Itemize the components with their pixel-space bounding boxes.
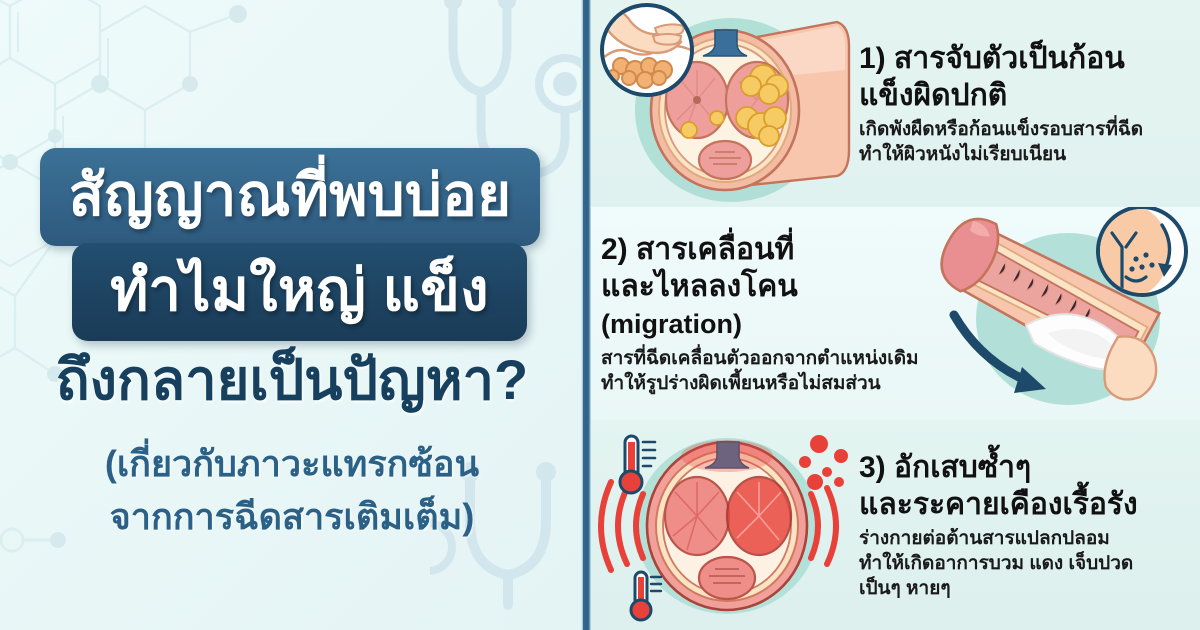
- headline-line-1: สัญญาณที่พบบ่อย: [40, 148, 540, 246]
- item-heading-line-1: สารจับตัวเป็นก้อน: [894, 42, 1125, 75]
- item-body-line-3: เป็นๆ หายๆ: [859, 578, 951, 599]
- item-heading-line-2: แข็งผิดปกติ: [859, 79, 1007, 112]
- item-heading: 3) อักเสบซ้ำๆ และระคายเคืองเรื้อรัง: [859, 449, 1192, 523]
- item-heading-line-1: สารเคลื่อนที่: [636, 233, 794, 266]
- left-panel: สัญญาณที่พบบ่อย ทำไมใหญ่ แข็ง ถึงกลายเป็…: [0, 0, 584, 630]
- vertical-divider: [581, 0, 591, 630]
- cross-section-with-yellow-lumps: [591, 0, 853, 207]
- right-panel: 1) สารจับตัวเป็นก้อน แข็งผิดปกติ เกิดพัง…: [591, 0, 1200, 630]
- item-body: ร่างกายต่อต้านสารแปลกปลอม ทำให้เกิดอาการ…: [859, 526, 1192, 601]
- item-text: 2) สารเคลื่อนที่ และไหลลงโคน (migration)…: [591, 231, 930, 396]
- list-item: 3) อักเสบซ้ำๆ และระคายเคืองเรื้อรัง ร่าง…: [591, 420, 1200, 630]
- item-heading: 2) สารเคลื่อนที่ และไหลลงโคน (migration): [601, 231, 922, 343]
- item-heading: 1) สารจับตัวเป็นก้อน แข็งผิดปกติ: [859, 40, 1192, 114]
- item-body-line-1: เกิดพังผืดหรือก้อนแข็งรอบสารที่ฉีด: [859, 119, 1143, 140]
- item-heading-line-1: อักเสบซ้ำๆ: [894, 451, 1031, 484]
- list-item: 1) สารจับตัวเป็นก้อน แข็งผิดปกติ เกิดพัง…: [591, 0, 1200, 207]
- item-number: 3): [859, 451, 886, 484]
- subtitle-line-2: จากการฉีดสารเติมเต็ม): [0, 490, 584, 543]
- headline-line-2: ทำไมใหญ่ แข็ง: [72, 243, 527, 341]
- subtitle-group: (เกี่ยวกับภาวะแทรกซ้อน จากการฉีดสารเติมเ…: [0, 437, 584, 543]
- headline-line-3: ถึงกลายเป็นปัญหา?: [0, 345, 584, 415]
- infographic-canvas: สัญญาณที่พบบ่อย ทำไมใหญ่ แข็ง ถึงกลายเป็…: [0, 0, 1200, 630]
- item-heading-line-3: (migration): [601, 309, 742, 339]
- item-body-line-2: ทำให้ผิวหนังไม่เรียบเนียน: [859, 144, 1066, 165]
- list-item: 2) สารเคลื่อนที่ และไหลลงโคน (migration)…: [591, 207, 1200, 420]
- item-body: เกิดพังผืดหรือก้อนแข็งรอบสารที่ฉีด ทำให้…: [859, 117, 1192, 167]
- item-body: สารที่ฉีดเคลื่อนตัวออกจากตำแหน่งเดิม ทำใ…: [601, 346, 922, 396]
- item-body-line-2: ทำให้รูปร่างผิดเพี้ยนหรือไม่สมส่วน: [601, 373, 881, 394]
- item-body-line-1: ร่างกายต่อต้านสารแปลกปลอม: [859, 528, 1110, 549]
- item-heading-line-2: และระคายเคืองเรื้อรัง: [859, 488, 1138, 521]
- longitudinal-section-with-migration-arrow: [930, 207, 1200, 420]
- inflamed-cross-section: [591, 420, 853, 630]
- item-text: 1) สารจับตัวเป็นก้อน แข็งผิดปกติ เกิดพัง…: [853, 40, 1200, 167]
- item-number: 2): [601, 233, 628, 266]
- item-heading-line-2: และไหลลงโคน: [601, 270, 798, 303]
- item-number: 1): [859, 42, 886, 75]
- item-body-line-2: ทำให้เกิดอาการบวม แดง เจ็บปวด: [859, 553, 1133, 574]
- subtitle-line-1: (เกี่ยวกับภาวะแทรกซ้อน: [0, 437, 584, 490]
- item-text: 3) อักเสบซ้ำๆ และระคายเคืองเรื้อรัง ร่าง…: [853, 449, 1200, 601]
- item-body-line-1: สารที่ฉีดเคลื่อนตัวออกจากตำแหน่งเดิม: [601, 348, 919, 369]
